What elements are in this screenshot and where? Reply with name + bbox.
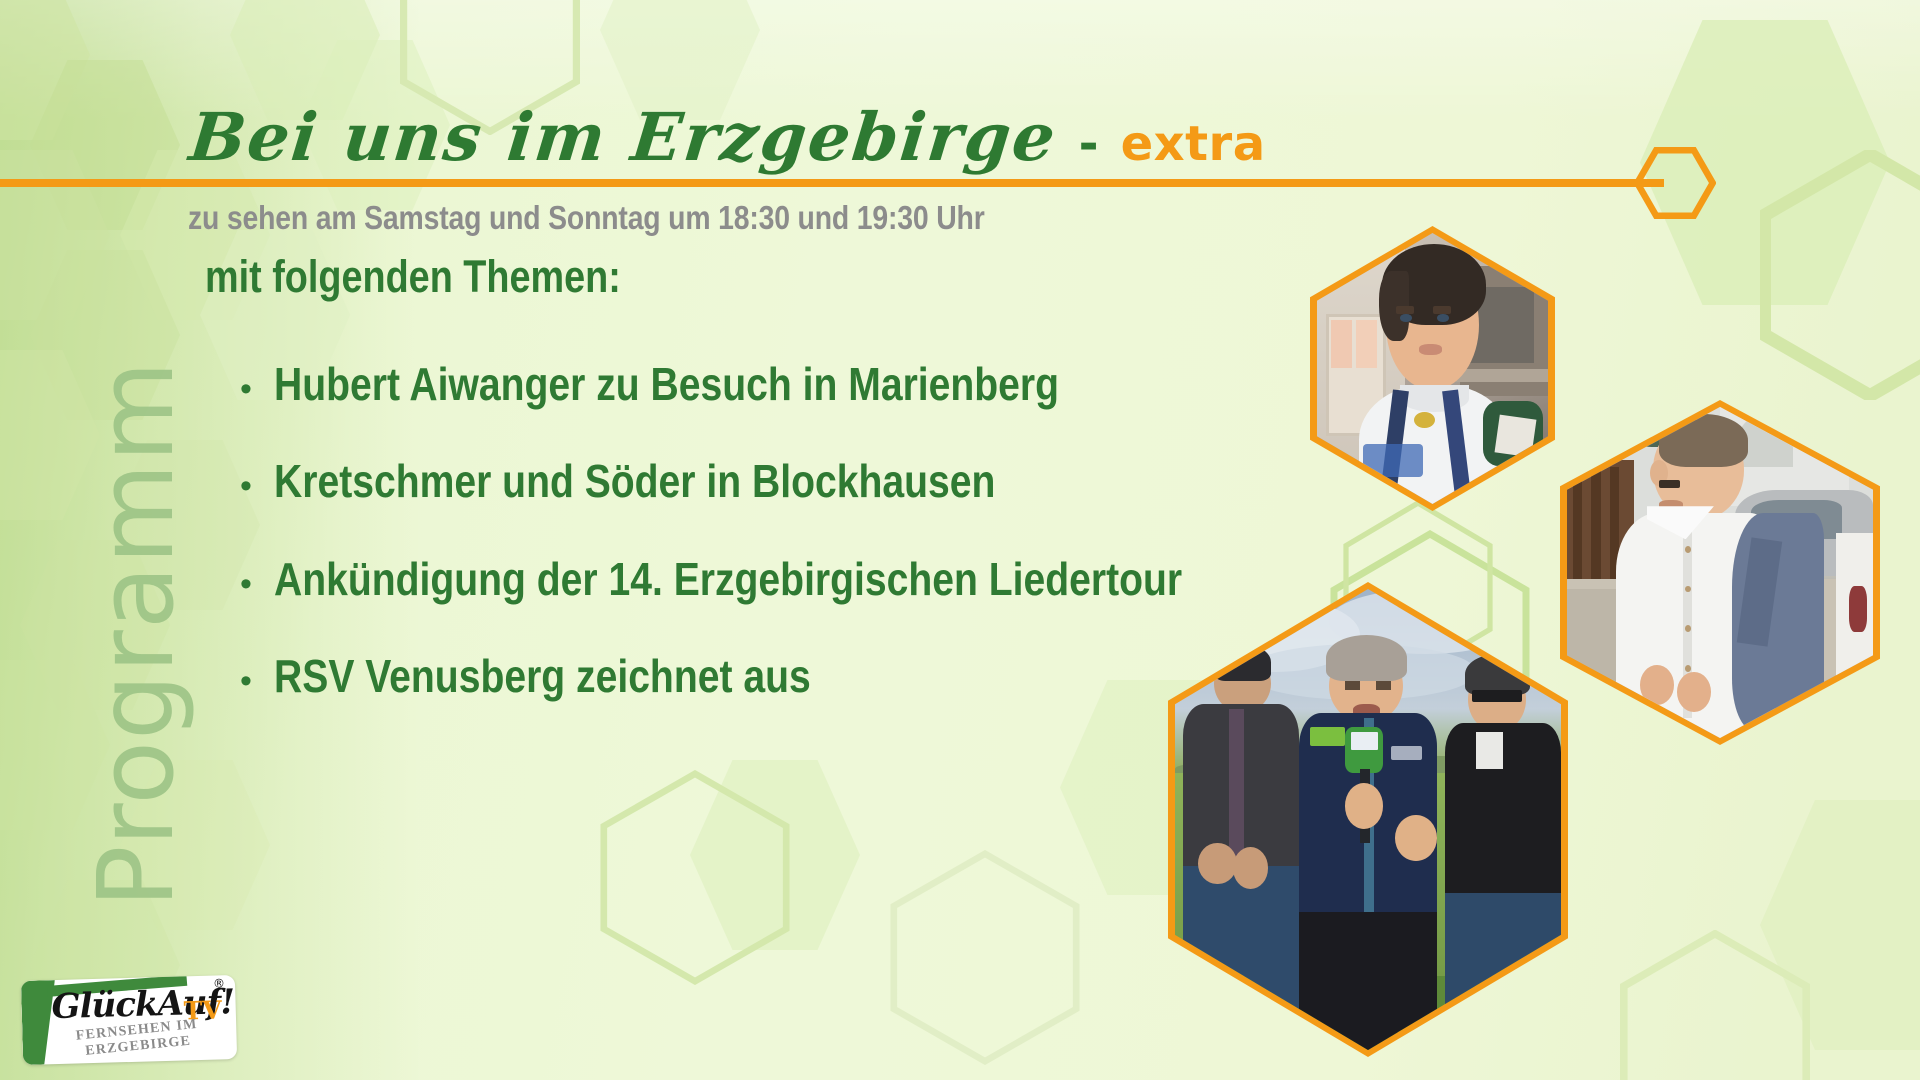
photo-image (1567, 407, 1873, 738)
title-script-text: Bei uns im Erzgebirge (187, 104, 1061, 170)
vertical-section-label: Programm (84, 268, 188, 908)
broadcast-slide: Programm Bei uns im Erzgebirge - extra z… (0, 0, 1920, 1080)
list-item-label: RSV Venusberg zeichnet aus (274, 652, 811, 700)
hexagon-outline (1620, 930, 1810, 1080)
photo-cyclist (1310, 226, 1555, 511)
bullet-icon: • (240, 372, 274, 406)
list-item: • Hubert Aiwanger zu Besuch in Marienber… (240, 360, 1342, 408)
broadcast-times: zu sehen am Samstag und Sonntag um 18:30… (188, 200, 985, 236)
photo-image (1175, 589, 1561, 1050)
channel-logo[interactable]: GlückAuf! TV ® FERNSEHEN IM ERZGEBIRGE (21, 975, 237, 1065)
bullet-icon: • (240, 567, 274, 601)
topics-intro: mit folgenden Themen: (205, 252, 621, 302)
list-item: • Kretschmer und Söder in Blockhausen (240, 457, 1342, 505)
bullet-icon: • (240, 469, 274, 503)
orange-divider-line (0, 179, 1664, 187)
photo-field-interview (1168, 582, 1568, 1057)
hexagon-outline (600, 770, 790, 985)
hexagon-outline (1760, 150, 1920, 400)
logo-registered-icon: ® (213, 976, 225, 990)
hexagon-outline (890, 850, 1080, 1065)
bullet-icon: • (240, 664, 274, 698)
list-item-label: Hubert Aiwanger zu Besuch in Marienberg (274, 360, 1059, 408)
slide-title: Bei uns im Erzgebirge - extra (190, 104, 1266, 172)
title-dash: - (1073, 116, 1105, 172)
list-item-label: Ankündigung der 14. Erzgebirgischen Lied… (274, 555, 1182, 603)
photo-aiwanger (1560, 400, 1880, 745)
list-item-label: Kretschmer und Söder in Blockhausen (274, 457, 995, 505)
title-extra-text: extra (1121, 116, 1266, 172)
divider-end-hexagon-icon (1634, 147, 1716, 219)
